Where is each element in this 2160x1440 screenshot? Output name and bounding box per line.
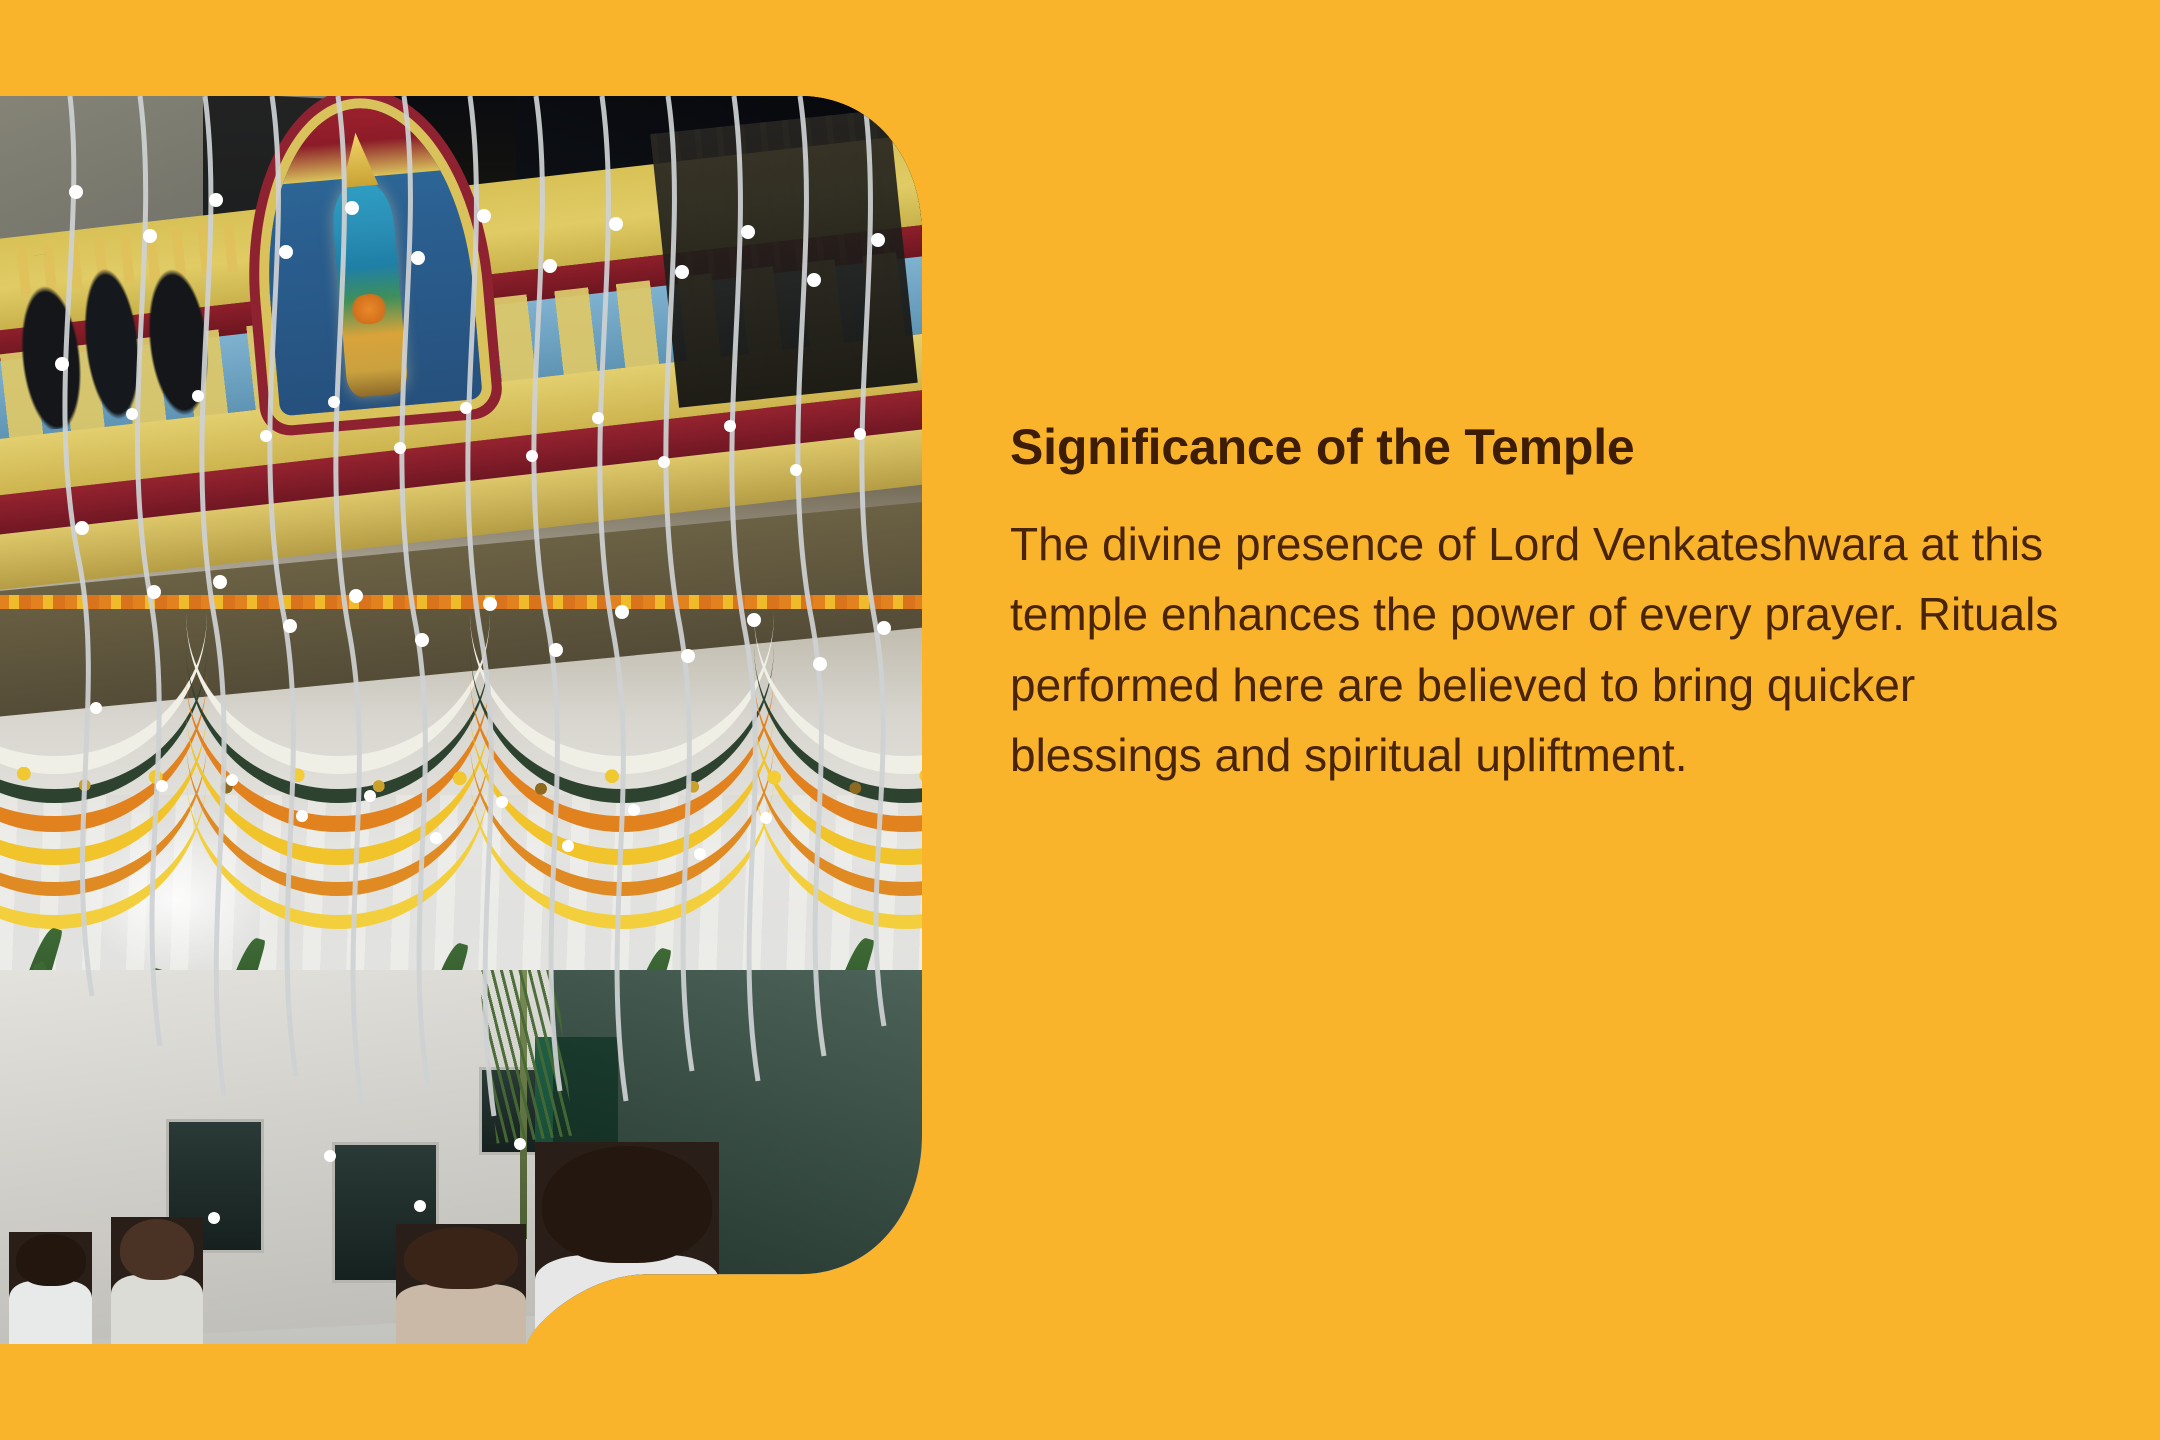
- deity-niche: [255, 100, 483, 416]
- temple-photo: [0, 96, 922, 1344]
- venkateshwara-idol: [330, 178, 409, 398]
- garland-swag: [186, 608, 490, 883]
- bottom-courtyard-scene: [0, 970, 922, 1344]
- garland-swag: [0, 608, 207, 883]
- devotee-foreground: [535, 1142, 719, 1344]
- text-column: Significance of the Temple The divine pr…: [1010, 420, 2100, 791]
- garland-swag: [470, 608, 774, 883]
- devotee: [396, 1224, 525, 1344]
- slide-canvas: Significance of the Temple The divine pr…: [0, 0, 2160, 1440]
- marigold-garland-swags: [0, 608, 922, 883]
- page-title: Significance of the Temple: [1010, 420, 2100, 475]
- marigold-drop-beads: [0, 767, 922, 800]
- devotee: [9, 1232, 92, 1344]
- side-deity-figures: [10, 235, 248, 432]
- body-paragraph: The divine presence of Lord Venkateshwar…: [1010, 509, 2070, 791]
- devotee: [111, 1217, 203, 1344]
- garland-swag: [754, 608, 922, 883]
- right-gopuram-structure: [650, 109, 917, 407]
